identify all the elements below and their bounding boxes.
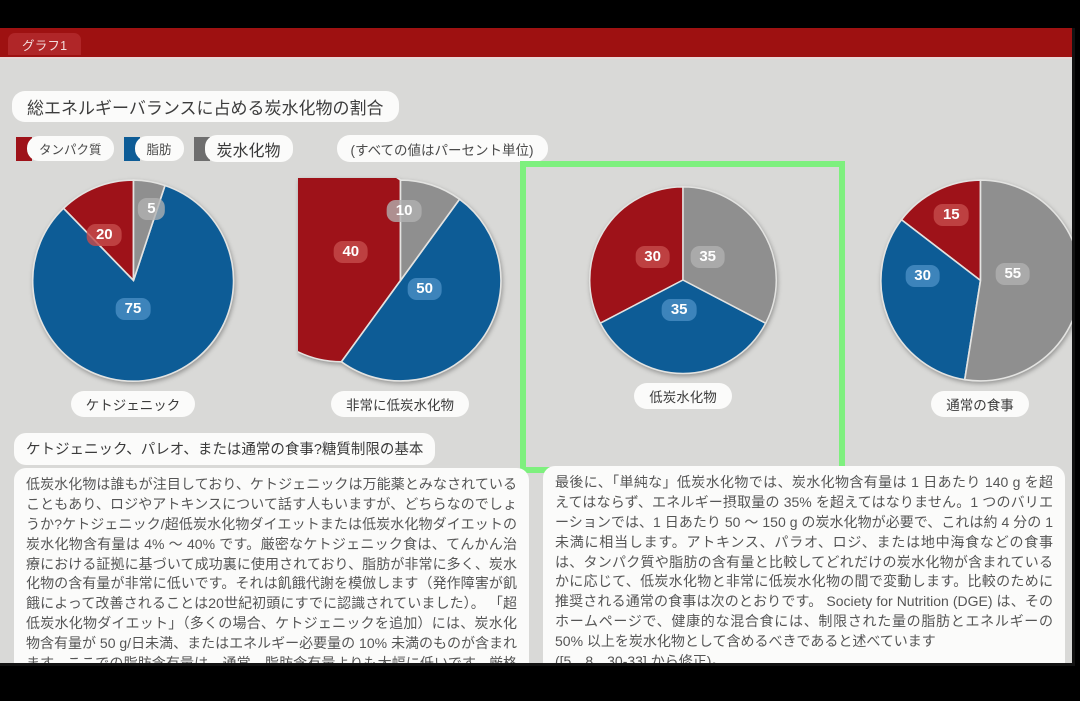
text-panel-right-body: 最後に、「単純な」低炭水化物では、炭水化物含有量は 1 日あたり 140 g を… bbox=[543, 466, 1065, 666]
pie-ketogenic-graphic: 20 75 5 bbox=[31, 178, 236, 383]
legend-label-protein: タンパク質 bbox=[27, 136, 114, 161]
pie-chart-very-low-carb[interactable]: 40 50 10 非常に低炭水化物 bbox=[275, 173, 525, 448]
slide-window: グラフ1 総エネルギーバランスに占める炭水化物の割合 タンパク質 脂肪 炭水化物… bbox=[0, 28, 1075, 666]
legend-item-fat: 脂肪 bbox=[124, 136, 184, 161]
legend-item-carbohydrate: 炭水化物 bbox=[194, 135, 293, 162]
slide-title: 総エネルギーバランスに占める炭水化物の割合 bbox=[12, 91, 399, 122]
pie-ketogenic-caption: ケトジェニック bbox=[71, 391, 196, 417]
chart-legend: タンパク質 脂肪 炭水化物 (すべての値はパーセント単位) bbox=[16, 135, 548, 162]
text-panel-right: 最後に、「単純な」低炭水化物では、炭水化物含有量は 1 日あたり 140 g を… bbox=[543, 466, 1065, 666]
pie-very-low-carb-svg bbox=[298, 178, 503, 383]
pie-chart-normal-diet[interactable]: 15 30 55 通常の食事 bbox=[855, 173, 1075, 448]
pie-normal-diet-svg bbox=[878, 178, 1076, 383]
pie-normal-diet-graphic: 15 30 55 bbox=[878, 178, 1076, 383]
text-panel-left-body: 低炭水化物は誰もが注目しており、ケトジェニックは万能薬とみなされていることもあり… bbox=[14, 468, 529, 666]
pie-very-low-carb-graphic: 40 50 10 bbox=[298, 178, 503, 383]
chart-ribbon: グラフ1 bbox=[0, 28, 1072, 59]
pie-chart-row: 20 75 5 ケトジェニック 40 50 bbox=[0, 173, 1072, 448]
text-panel-right-paragraph: 最後に、「単純な」低炭水化物では、炭水化物含有量は 1 日あたり 140 g を… bbox=[555, 473, 1053, 652]
tab-graph1[interactable]: グラフ1 bbox=[8, 33, 81, 55]
text-panel-left: ケトジェニック、パレオ、または通常の食事?糖質制限の基本 低炭水化物は誰もが注目… bbox=[14, 433, 529, 666]
pie-normal-diet-caption: 通常の食事 bbox=[931, 391, 1029, 417]
pie-chart-ketogenic[interactable]: 20 75 5 ケトジェニック bbox=[8, 173, 258, 448]
legend-unit-note: (すべての値はパーセント単位) bbox=[337, 135, 548, 162]
pie-very-low-carb-caption: 非常に低炭水化物 bbox=[331, 391, 469, 417]
pie-low-carb-svg bbox=[588, 185, 778, 375]
text-panel-left-heading: ケトジェニック、パレオ、または通常の食事?糖質制限の基本 bbox=[14, 433, 435, 465]
pie-low-carb-caption: 低炭水化物 bbox=[634, 383, 732, 409]
legend-label-fat: 脂肪 bbox=[135, 136, 184, 161]
text-panel-left-paragraph: 低炭水化物は誰もが注目しており、ケトジェニックは万能薬とみなされていることもあり… bbox=[26, 475, 517, 666]
text-panel-right-citation: ([5、8、30-33] から修正)。 bbox=[555, 652, 1053, 666]
pie-chart-low-carb[interactable]: 30 35 35 低炭水化物 bbox=[558, 173, 808, 448]
pie-ketogenic-svg bbox=[31, 178, 236, 383]
pie-low-carb-graphic: 30 35 35 bbox=[588, 185, 778, 375]
slide-body: 総エネルギーバランスに占める炭水化物の割合 タンパク質 脂肪 炭水化物 (すべて… bbox=[0, 61, 1072, 663]
legend-label-carbohydrate: 炭水化物 bbox=[205, 135, 293, 162]
screenshot-stage: グラフ1 総エネルギーバランスに占める炭水化物の割合 タンパク質 脂肪 炭水化物… bbox=[0, 0, 1080, 701]
legend-item-protein: タンパク質 bbox=[16, 136, 114, 161]
